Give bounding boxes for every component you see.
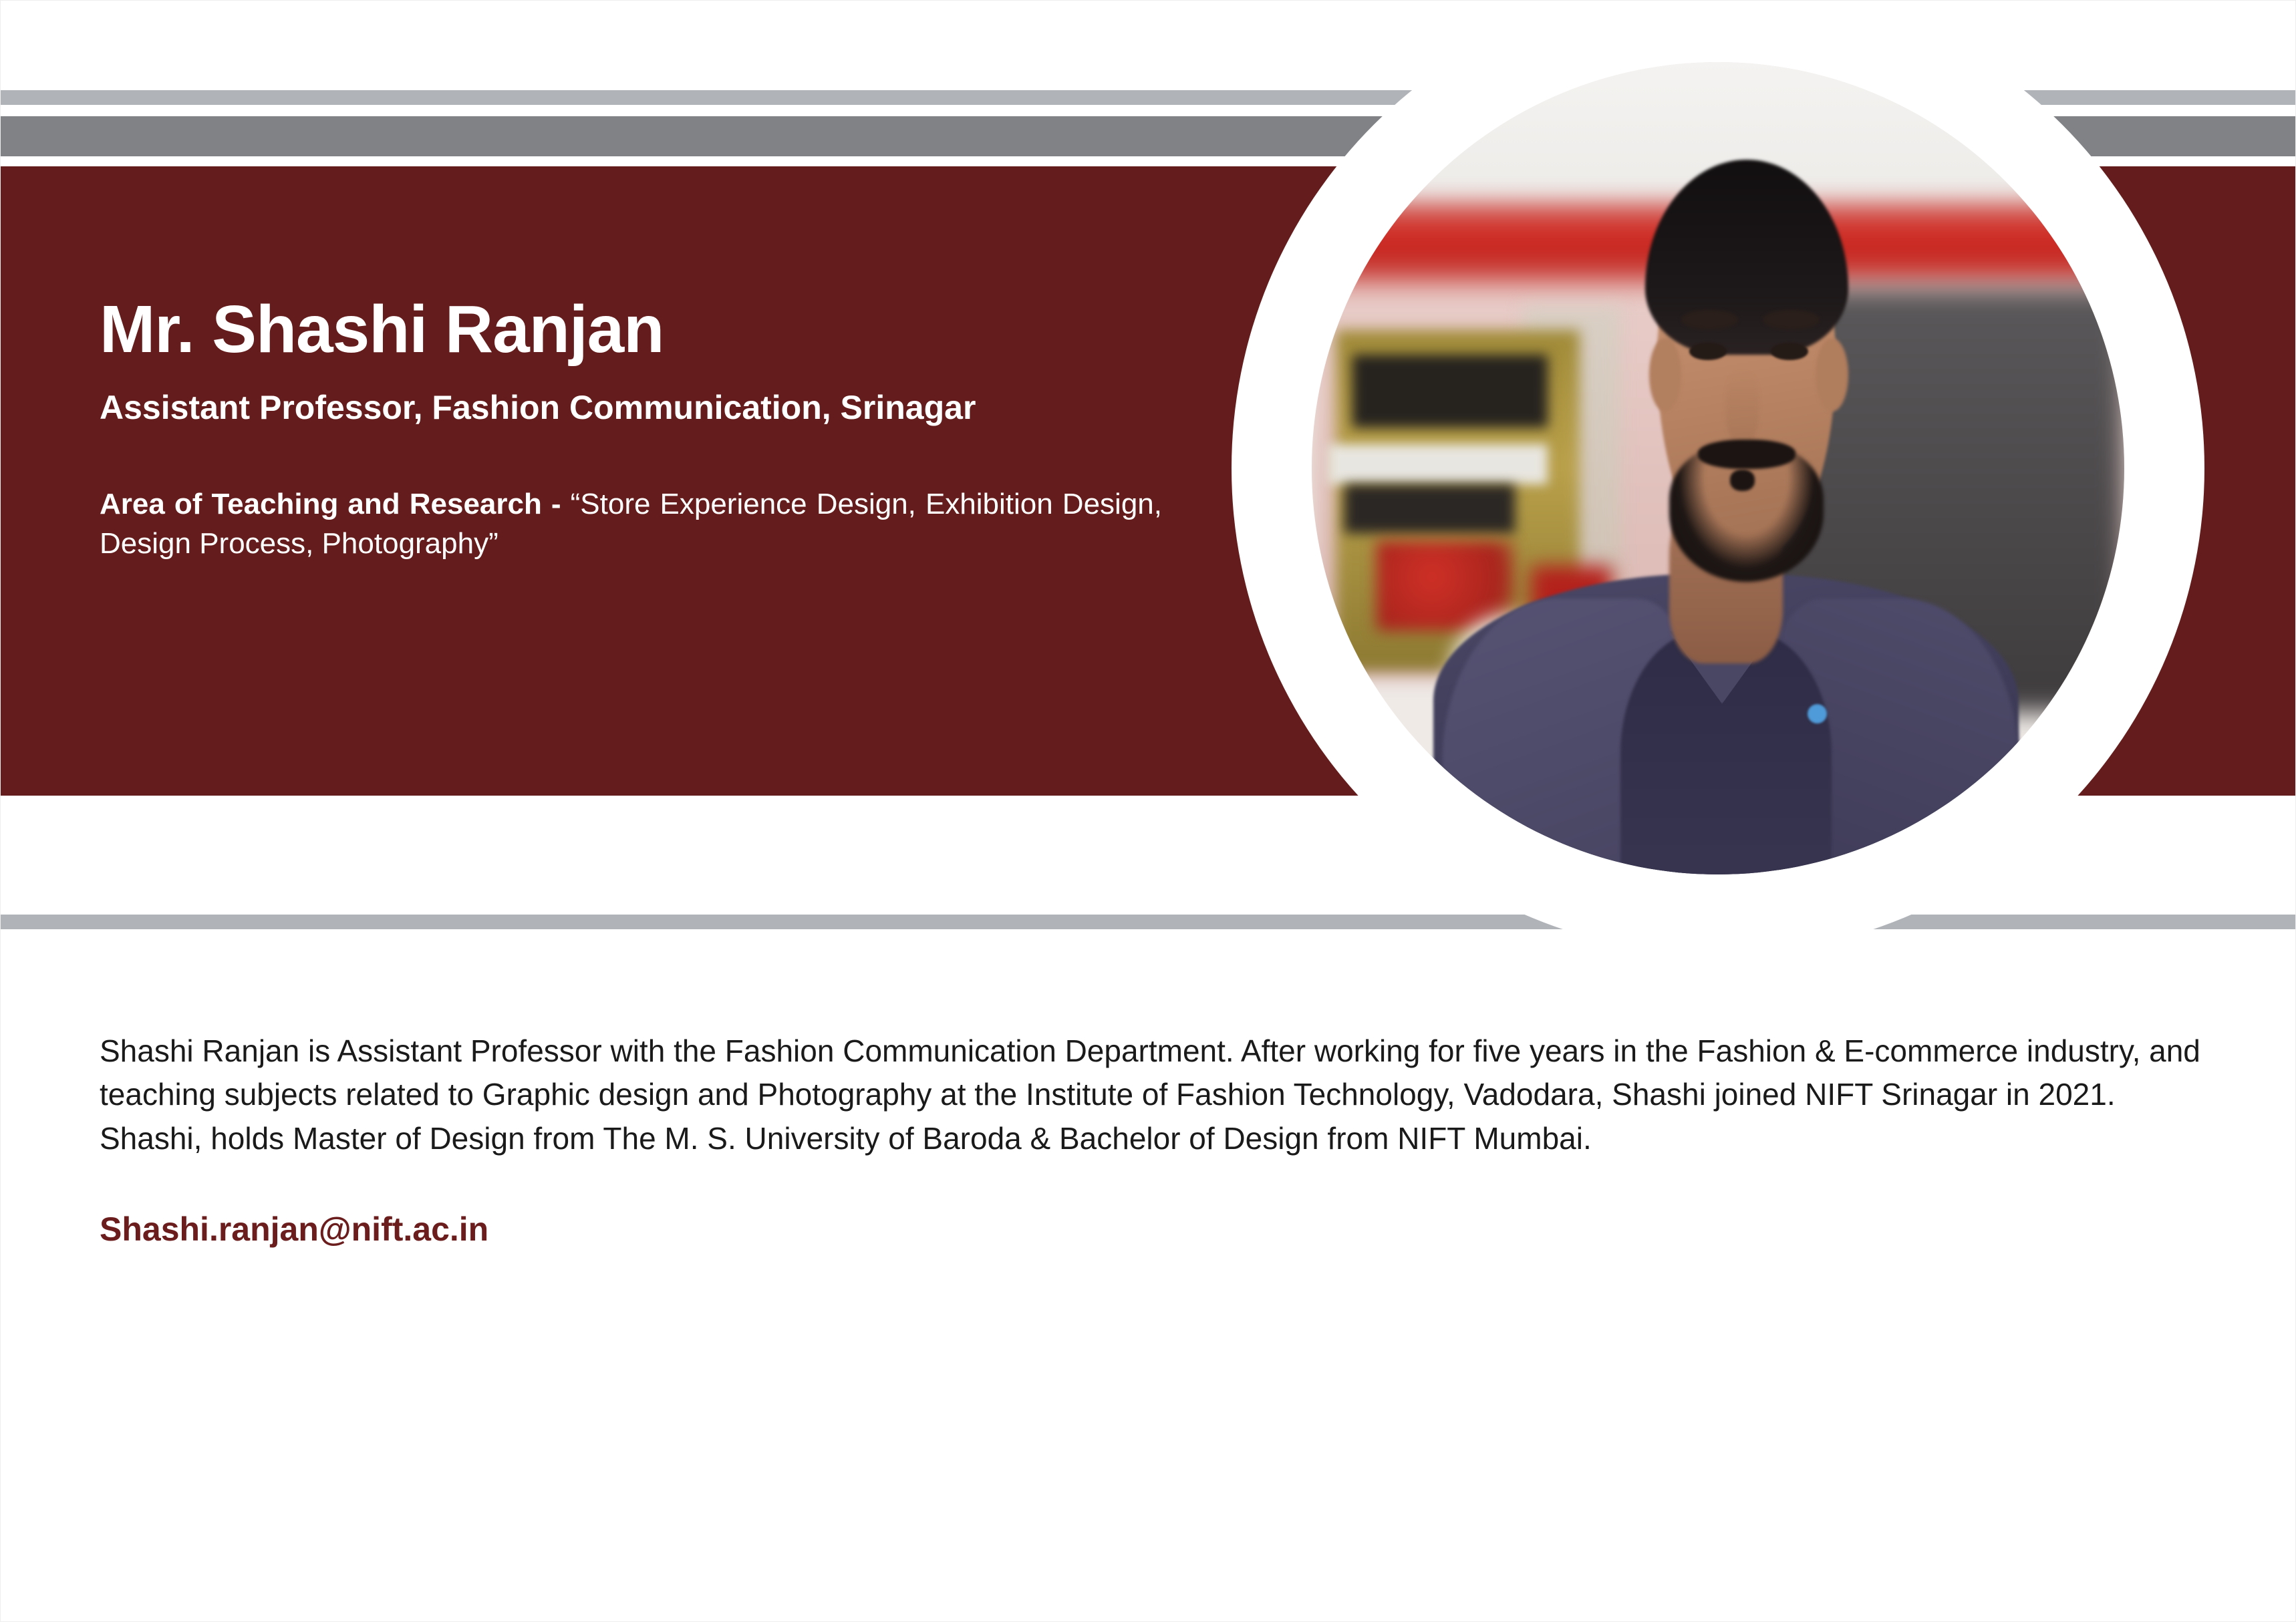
page-title: Mr. Shashi Ranjan (100, 295, 1236, 365)
photo-person-ear-right (1816, 338, 1848, 411)
portrait-photo-image (1312, 62, 2124, 874)
portrait-photo (1312, 62, 2124, 874)
bottom-light-gray-bar (1, 915, 2295, 929)
photo-person-eyebrow-right (1763, 310, 1820, 329)
photo-person-moustache (1698, 440, 1796, 469)
photo-person-ear-left (1649, 338, 1682, 411)
designation-text: Assistant Professor, Fashion Communicati… (100, 387, 1236, 428)
photo-bg-poster-dark-band (1352, 355, 1548, 428)
photo-person-nose (1726, 371, 1759, 444)
photo-bg-poster-dark-band-2 (1344, 484, 1515, 533)
email-link[interactable]: Shashi.ranjan@nift.ac.in (100, 1210, 488, 1249)
biography-block: Shashi Ranjan is Assistant Professor wit… (100, 1029, 2211, 1249)
photo-bg-poster-light-band (1328, 444, 1547, 485)
biography-text: Shashi Ranjan is Assistant Professor wit… (100, 1029, 2211, 1160)
photo-person-eye-right (1771, 343, 1808, 361)
area-label: Area of Teaching and Research - (100, 488, 571, 520)
area-of-teaching-and-research: Area of Teaching and Research - “Store E… (100, 485, 1162, 563)
profile-card-page: Mr. Shashi Ranjan Assistant Professor, F… (0, 0, 2296, 1622)
photo-person-soul-patch (1730, 470, 1754, 491)
photo-person-lapel-pin (1808, 704, 1827, 723)
photo-person-eyebrow-left (1681, 310, 1738, 329)
hero-text-block: Mr. Shashi Ranjan Assistant Professor, F… (100, 295, 1236, 563)
